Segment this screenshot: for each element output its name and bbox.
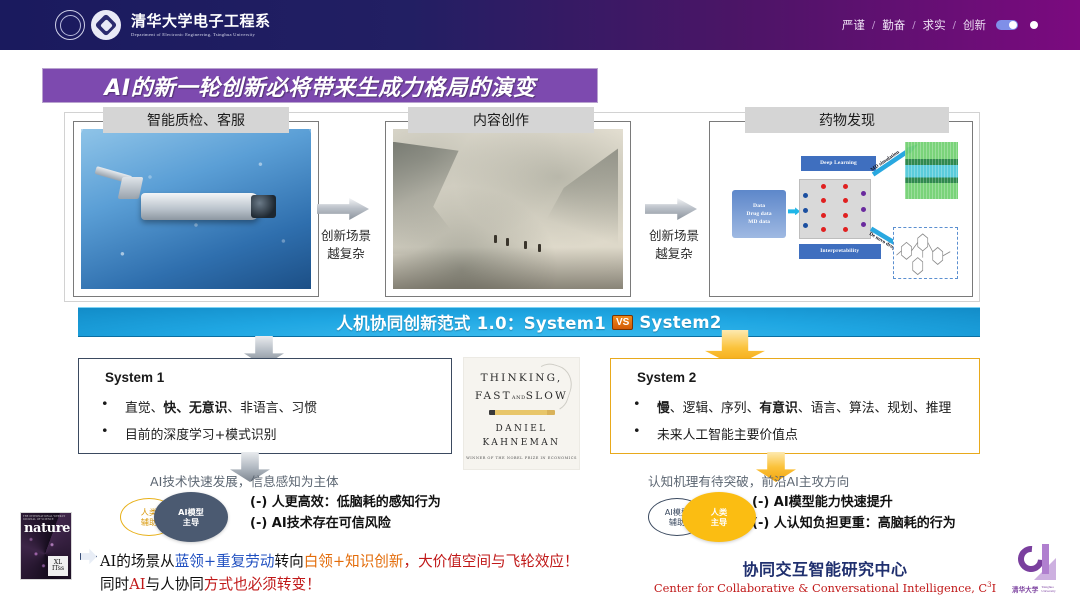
book-award-line: WINNER OF THE NOBEL PRIZE IN ECONOMICS <box>466 456 577 460</box>
flow-arrow-1-line2: 越复杂 <box>303 245 389 263</box>
tsinghua-name-cn: 清华大学 <box>1012 584 1038 594</box>
right-ellipse-human-lead: 人类 主导 <box>682 492 756 542</box>
system2-title: System 2 <box>637 370 696 385</box>
page-header: 清华大学电子工程系 Department of Electronic Engin… <box>0 0 1080 50</box>
dd-data-label: Data <box>753 203 765 209</box>
slide-canvas: 清华大学电子工程系 Department of Electronic Engin… <box>0 0 1080 602</box>
seg: I <box>992 581 997 595</box>
flow-arrow-2-line2: 越复杂 <box>631 245 717 263</box>
tsinghua-logo-text: 清华大学 Tsinghua University <box>1012 584 1070 594</box>
seg: 与人协同 <box>146 576 204 593</box>
seg-blue: 蓝领+重复劳动 <box>175 553 275 570</box>
motto-item-3: 创新 <box>963 17 986 33</box>
system1-box: System 1 • 直觉、快、无意识、非语言、习惯 • 目前的深度学习+模式识… <box>78 358 452 454</box>
seg-bold: 有意识 <box>759 401 797 416</box>
panel-drug-discovery: Data Drug data MD data Deep Learning <box>709 121 973 297</box>
line2: University <box>1041 589 1055 593</box>
motto-sep-2: / <box>953 20 956 31</box>
panel-caption-drug-discovery: 药物发现 <box>745 107 949 133</box>
label-line2: 主导 <box>183 517 199 528</box>
system2-bullet-0-text: 慢、逻辑、序列、有意识、语言、算法、规划、推理 <box>657 397 951 416</box>
right-point-0: (-) AI模型能力快速提升 <box>752 492 956 513</box>
motto-item-1: 勤奋 <box>882 17 905 33</box>
label-line1: 人类 <box>711 507 727 518</box>
conclusion-arrow-icon <box>80 548 97 565</box>
system1-bullet-0: • 直觉、快、无意识、非语言、习惯 <box>101 397 317 416</box>
molecule-svg <box>894 228 956 279</box>
badge-line2: ITss <box>52 566 64 572</box>
nature-magazine-cover: THE INTERNATIONAL WEEKLY JOURNAL OF SCIE… <box>20 512 72 580</box>
research-center-name-cn: 协同交互智能研究中心 <box>630 556 1020 580</box>
motto-item-0: 严谨 <box>842 17 865 33</box>
seg-red: 方式也必须转变！ <box>204 576 321 593</box>
header-dot-icon[interactable] <box>1030 21 1038 29</box>
header-toggle-icon[interactable] <box>996 20 1018 30</box>
system2-bullet-0: • 慢、逻辑、序列、有意识、语言、算法、规划、推理 <box>633 397 951 416</box>
seg: Center for Collaborative & Conversationa… <box>654 581 987 595</box>
left-lead-text: AI技术快速发展，信息感知为主体 <box>150 471 339 490</box>
panel-caption-smart-inspection: 智能质检、客服 <box>103 107 289 133</box>
bullet-marker: • <box>633 424 639 443</box>
seg: 转向 <box>274 553 303 570</box>
dd-neural-network-graphic <box>799 179 871 240</box>
flow-arrow-2-label: 创新场景 越复杂 <box>631 227 717 263</box>
dd-membrane-graphic <box>905 142 957 200</box>
left-point-1: (-) AI技术存在可信风险 <box>250 513 441 534</box>
dd-deep-learning-label: Deep Learning <box>801 156 875 170</box>
system1-bullet-1-text: 目前的深度学习+模式识别 <box>125 424 277 443</box>
seg-red: AI <box>129 576 145 593</box>
bullet-marker: • <box>633 397 639 416</box>
department-emblem-icon <box>91 10 121 40</box>
book-author-last: KAHNEMAN <box>483 438 561 448</box>
right-point-1: (-) 人认知负担更重：高脑耗的行为 <box>752 513 956 534</box>
dd-molecule-graphic <box>893 227 957 280</box>
flow-arrow-1-label: 创新场景 越复杂 <box>303 227 389 263</box>
seg: 直觉、 <box>125 401 163 416</box>
header-motto: 严谨 / 勤奋 / 求实 / 创新 <box>842 0 1038 50</box>
panel-caption-content-creation: 内容创作 <box>408 107 594 133</box>
flow-arrow-2-line1: 创新场景 <box>631 227 717 245</box>
bullet-marker: • <box>101 397 107 416</box>
surveillance-camera-image <box>81 129 311 289</box>
conclusion-line-2: 同时AI与人协同方式也必须转变！ <box>100 573 579 596</box>
right-role-ellipses: AI模型 辅助 人类 主导 <box>648 492 758 542</box>
paradigm-banner-right: System2 <box>639 313 721 332</box>
seg: 、逻辑、序列、 <box>670 401 760 416</box>
research-center-name-en: Center for Collaborative & Conversationa… <box>630 581 1020 595</box>
tsinghua-logo: 清华大学 Tsinghua University <box>1012 544 1070 598</box>
logo-title-cn: 清华大学电子工程系 <box>131 13 271 30</box>
paradigm-banner-left: 人机协同创新范式 1.0：System1 <box>336 310 606 334</box>
drug-discovery-diagram-image: Data Drug data MD data Deep Learning <box>717 129 965 289</box>
tsinghua-name-en: Tsinghua University <box>1041 585 1055 593</box>
book-author-first: DANIEL <box>495 424 547 434</box>
university-logo: 清华大学电子工程系 Department of Electronic Engin… <box>55 8 271 42</box>
chinese-landscape-painting-image <box>393 129 623 289</box>
nature-cover-badge: XL ITss <box>48 556 68 576</box>
paradigm-banner: 人机协同创新范式 1.0：System1 VS System2 <box>78 307 980 337</box>
system2-bullet-1: • 未来人工智能主要价值点 <box>633 424 798 443</box>
logo-title-en: Department of Electronic Engineering, Ts… <box>131 31 271 38</box>
bullet-marker: • <box>101 424 107 443</box>
seg-bold: 慢 <box>657 401 670 416</box>
research-center-logo: 协同交互智能研究中心 Center for Collaborative & Co… <box>630 556 1020 595</box>
dd-data-sub2: MD data <box>748 219 770 225</box>
panel-content-creation <box>385 121 631 297</box>
book-pencil-graphic <box>489 410 555 415</box>
system1-bullet-1: • 目前的深度学习+模式识别 <box>101 424 277 443</box>
seg-red: ，大价值空间与飞轮效应！ <box>403 553 578 570</box>
panel-smart-inspection <box>73 121 319 297</box>
left-points-list: (-) 人更高效：低脑耗的感知行为 (-) AI技术存在可信风险 <box>250 492 441 534</box>
vs-badge: VS <box>612 315 633 330</box>
conclusion-text: AI的场景从蓝领+重复劳动转向白领+知识创新，大价值空间与飞轮效应！ 同时AI与… <box>100 550 579 596</box>
book-and: AND <box>512 395 526 401</box>
scenario-panels-group: 智能质检、客服 内容创作 Data Drug data MD data <box>64 112 980 302</box>
dd-data-sub1: Drug data <box>746 211 771 217</box>
dd-interpretability-label: Interpretability <box>799 244 881 258</box>
dd-data-block: Data Drug data MD data <box>732 190 787 238</box>
tsinghua-mark-icon <box>1018 544 1064 582</box>
system2-bullet-1-text: 未来人工智能主要价值点 <box>657 424 798 443</box>
seg-bold: 快、无意识 <box>163 401 227 416</box>
flow-arrow-1-line1: 创新场景 <box>303 227 389 245</box>
page-title: AI的新一轮创新必将带来生成力格局的演变 <box>104 70 535 102</box>
motto-sep-0: / <box>872 20 875 31</box>
book-fast: FAST <box>475 390 512 402</box>
conclusion-line-1: AI的场景从蓝领+重复劳动转向白领+知识创新，大价值空间与飞轮效应！ <box>100 550 579 573</box>
system2-box: System 2 • 慢、逻辑、序列、有意识、语言、算法、规划、推理 • 未来人… <box>610 358 980 454</box>
system1-title: System 1 <box>105 370 164 385</box>
book-cover-thinking-fast-and-slow: THINKING, FASTANDSLOW DANIEL KAHNEMAN WI… <box>463 357 580 470</box>
label-line2: 主导 <box>711 517 727 528</box>
seg: AI的场景从 <box>100 553 175 570</box>
book-swirl-decoration <box>523 359 577 416</box>
left-ellipse-ai-lead: AI模型 主导 <box>154 492 228 542</box>
nature-masthead: nature <box>24 521 70 536</box>
slide-title-banner: AI的新一轮创新必将带来生成力格局的演变 <box>42 68 598 103</box>
left-role-ellipses: 人类 辅助 AI模型 主导 <box>120 492 230 542</box>
right-points-list: (-) AI模型能力快速提升 (-) 人认知负担更重：高脑耗的行为 <box>752 492 956 534</box>
label-line1: AI模型 <box>178 507 204 518</box>
right-lead-text: 认知机理有待突破，前沿AI主攻方向 <box>648 471 849 490</box>
tsinghua-seal-icon <box>55 10 85 40</box>
seg: 、非语言、习惯 <box>227 401 317 416</box>
seg: 、语言、算法、规划、推理 <box>798 401 952 416</box>
motto-sep-1: / <box>912 20 915 31</box>
seg: 同时 <box>100 576 129 593</box>
motto-item-2: 求实 <box>923 17 946 33</box>
system1-bullet-0-text: 直觉、快、无意识、非语言、习惯 <box>125 397 317 416</box>
seg-orange: 白领+知识创新 <box>304 553 404 570</box>
left-point-0: (-) 人更高效：低脑耗的感知行为 <box>250 492 441 513</box>
